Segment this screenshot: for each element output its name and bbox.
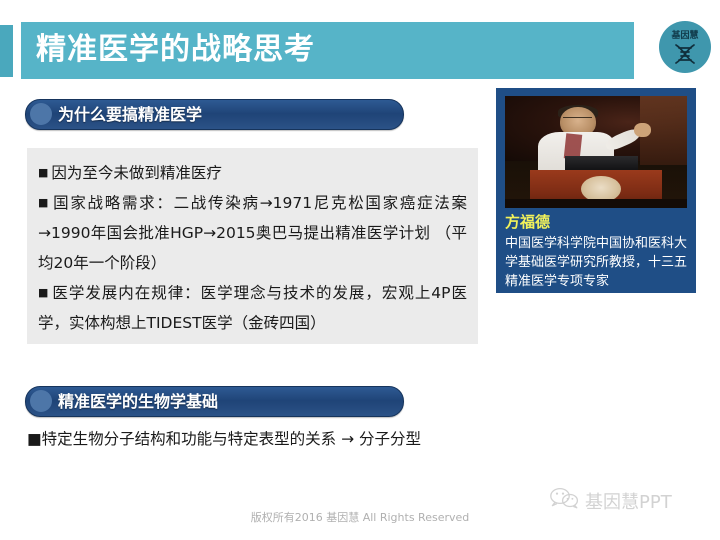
footer-watermark: 基因慧PPT [549, 487, 672, 514]
speaker-description: 中国医学科学院中国协和医科大学基础医学研究所教授，十三五精准医学专项专家 [505, 234, 691, 291]
speaker-photo [505, 96, 687, 208]
pill-dot-icon [30, 390, 52, 412]
section-header-why[interactable]: 为什么要搞精准医学 [25, 99, 404, 130]
bullet-glyph: ■ [38, 286, 49, 299]
section-header-why-label: 为什么要搞精准医学 [58, 103, 202, 126]
brand-logo-text: 基因慧 [659, 28, 711, 41]
section-header-biology[interactable]: 精准医学的生物学基础 [25, 386, 404, 417]
bullet-glyph: ■ [38, 196, 50, 209]
speaker-name: 方福德 [505, 213, 550, 232]
section-header-biology-label: 精准医学的生物学基础 [58, 390, 218, 413]
slide-root: 精准医学的战略思考 基因慧 为什么要搞精准医学 ■因为至今未做到 [0, 0, 720, 540]
content-box-why: ■因为至今未做到精准医疗 ■国家战略需求：二战传染病→1971尼克松国家癌症法案… [27, 148, 478, 344]
watermark-label: 基因慧PPT [585, 488, 672, 514]
bullet-item: ■国家战略需求：二战传染病→1971尼克松国家癌症法案→1990年国会批准HGP… [38, 188, 467, 278]
bullet-text: 国家战略需求：二战传染病→1971尼克松国家癌症法案→1990年国会批准HGP→… [38, 194, 467, 272]
bullet-item: ■因为至今未做到精准医疗 [38, 158, 467, 188]
bullet-text: 因为至今未做到精准医疗 [51, 164, 222, 182]
bullet-text: 医学发展内在规律：医学理念与技术的发展，宏观上4P医学，实体构想上TIDEST医… [38, 284, 467, 332]
bullet-glyph: ■ [38, 166, 48, 179]
bullet-item: ■医学发展内在规律：医学理念与技术的发展，宏观上4P医学，实体构想上TIDEST… [38, 278, 467, 338]
brand-logo: 基因慧 [659, 21, 711, 73]
wechat-icon [549, 487, 579, 514]
title-accent-tab [0, 25, 13, 77]
biology-bullet-line: ■特定生物分子结构和功能与特定表型的关系 → 分子分型 [27, 426, 587, 452]
pill-dot-icon [30, 103, 52, 125]
dna-helix-icon [659, 43, 711, 70]
speaker-panel: 方福德 中国医学科学院中国协和医科大学基础医学研究所教授，十三五精准医学专项专家 [496, 88, 696, 293]
page-title: 精准医学的战略思考 [36, 27, 315, 73]
